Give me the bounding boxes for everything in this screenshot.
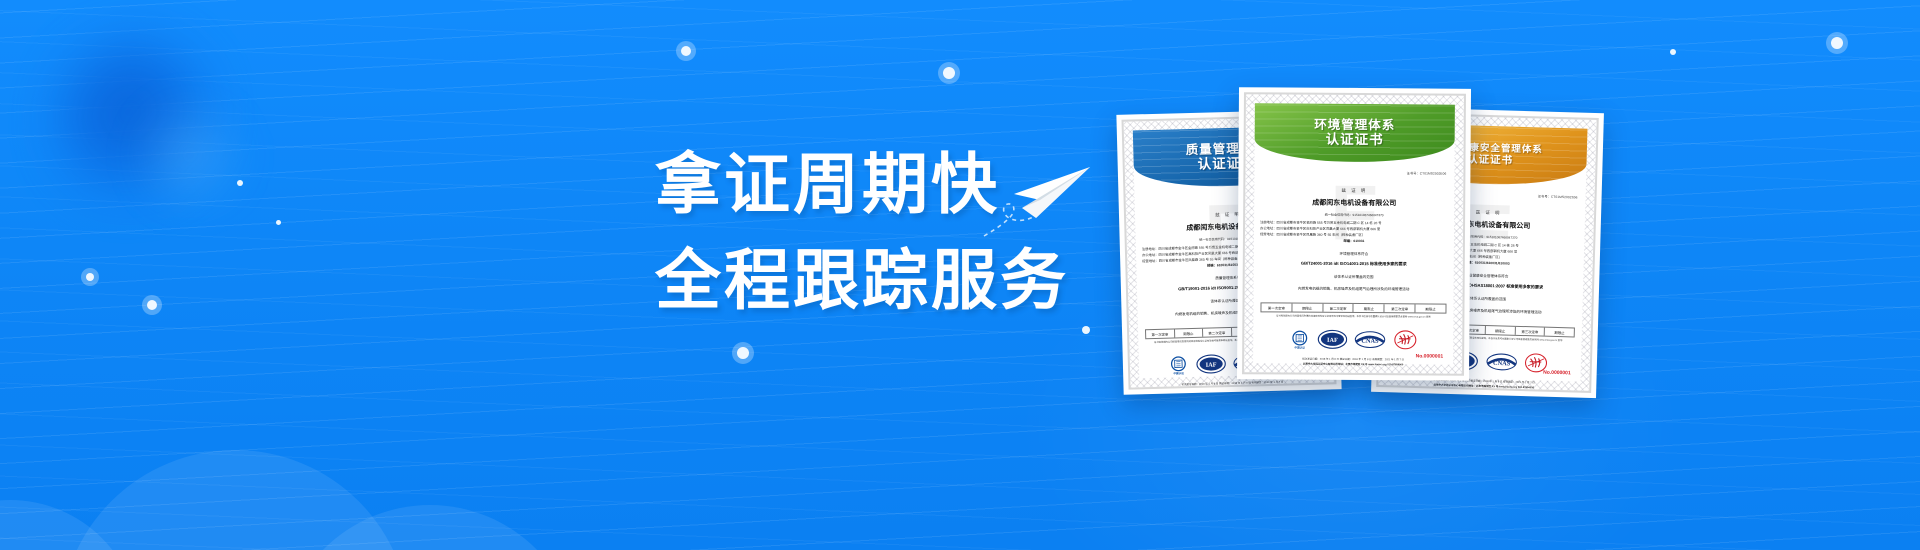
certification-banner: 拿证周期快 全程跟踪服务 F质量管理体系认证证书证书号：CT01MS2002B0… — [0, 0, 1920, 550]
red-stamp-icon — [1393, 329, 1417, 350]
scope-text: 内燃发电机组的销售、机房噪声及机组尾气治理所涉及的环境管理活动 — [1254, 287, 1454, 293]
certificate-card-environment[interactable]: F环境管理体系认证证书证书号：CT01MS2002E06兹 证 明成都闰东电机设… — [1237, 87, 1471, 381]
certificate-border: F环境管理体系认证证书证书号：CT01MS2002E06兹 证 明成都闰东电机设… — [1242, 92, 1466, 376]
certificate-title-line-1: 环境管理体系 — [1314, 118, 1395, 133]
cnas-seal-icon: CNAS — [1486, 351, 1518, 373]
decor-dot — [147, 300, 157, 310]
svg-text:CNAS: CNAS — [1362, 338, 1380, 345]
decor-dot — [237, 180, 243, 186]
decor-dot — [943, 67, 955, 79]
accreditation-seals: 中国认证 IAF CNAS — [1253, 328, 1453, 350]
iaf-seal-icon: IAF — [1317, 329, 1348, 350]
audit-cell: 期限止 — [1354, 304, 1385, 312]
audit-cell: 第三次定审 — [1385, 304, 1416, 312]
watermark: F — [1463, 186, 1513, 278]
certificate-number: 证书号：CT01MS2002E06 — [1407, 170, 1447, 175]
audit-schedule-table: 第一次定审期限止第二次定审期限止第三次定审期限止 — [1260, 303, 1446, 314]
iaf-seal-icon: IAF — [1196, 353, 1227, 375]
svg-text:IAF: IAF — [1327, 337, 1338, 344]
svg-text:中国认证: 中国认证 — [1173, 371, 1184, 375]
audit-cell: 第一次定审 — [1261, 304, 1292, 312]
decor-dot — [276, 220, 281, 225]
certificate-title-line-2: 认证证书 — [1467, 154, 1513, 167]
cnca-seal-icon: 中国认证 — [1289, 328, 1310, 349]
certificate-title-line-2: 认证证书 — [1326, 132, 1384, 148]
decor-dot — [1082, 326, 1090, 334]
audit-cell: 第二次定审 — [1203, 328, 1232, 337]
audit-cell: 第二次定审 — [1323, 304, 1354, 312]
cnas-seal-icon: CNAS — [1355, 329, 1387, 350]
svg-text:中国认证: 中国认证 — [1294, 345, 1305, 349]
light-blue-glow-blob — [130, 95, 250, 215]
standard-reference: GB/T24001-2016 idt ISO14001:2015 标准使用多家的… — [1254, 261, 1454, 268]
audit-cell: 第一次定审 — [1146, 330, 1175, 339]
audit-cell: 期限止 — [1416, 305, 1446, 313]
audit-cell: 第三次定审 — [1515, 327, 1545, 336]
certificate-serial: No.0000001 — [1416, 353, 1444, 359]
audit-cell: 期限止 — [1292, 304, 1323, 312]
decor-dot — [681, 46, 691, 56]
headline-line-2: 全程跟踪服务 — [655, 232, 1069, 328]
certificate-number: 证书号：CT01MS2002S06 — [1538, 193, 1578, 199]
decor-circle-large — [60, 450, 410, 550]
audit-cell: 期限止 — [1486, 326, 1516, 335]
paper-plane-icon — [978, 150, 1098, 242]
certificate-group: F质量管理体系认证证书证书号：CT01MS2002B06兹 证 明成都闰东电机设… — [1120, 0, 1920, 550]
certificate-header-ribbon: 环境管理体系认证证书 — [1255, 103, 1455, 162]
decor-dot — [737, 347, 749, 359]
decor-dot — [86, 273, 94, 281]
fine-print-note: 证书有效期内公司经营情况变更的持续有效性及认证有效性可登录本网站查询，本会书信息… — [1260, 316, 1446, 321]
audit-cell: 期限止 — [1175, 329, 1204, 338]
certificate-body: F环境管理体系认证证书证书号：CT01MS2002E06兹 证 明成都闰东电机设… — [1253, 103, 1455, 364]
audit-cell: 期限止 — [1545, 328, 1574, 337]
svg-text:CNAS: CNAS — [1493, 360, 1511, 367]
watermark: F — [1330, 168, 1378, 259]
svg-text:IAF: IAF — [1206, 361, 1217, 368]
scope-label: 该体系认证所覆盖的范围 — [1254, 275, 1454, 281]
cnca-seal-icon: 中国认证 — [1168, 354, 1190, 376]
certificate-serial: No.0000001 — [1543, 370, 1571, 377]
